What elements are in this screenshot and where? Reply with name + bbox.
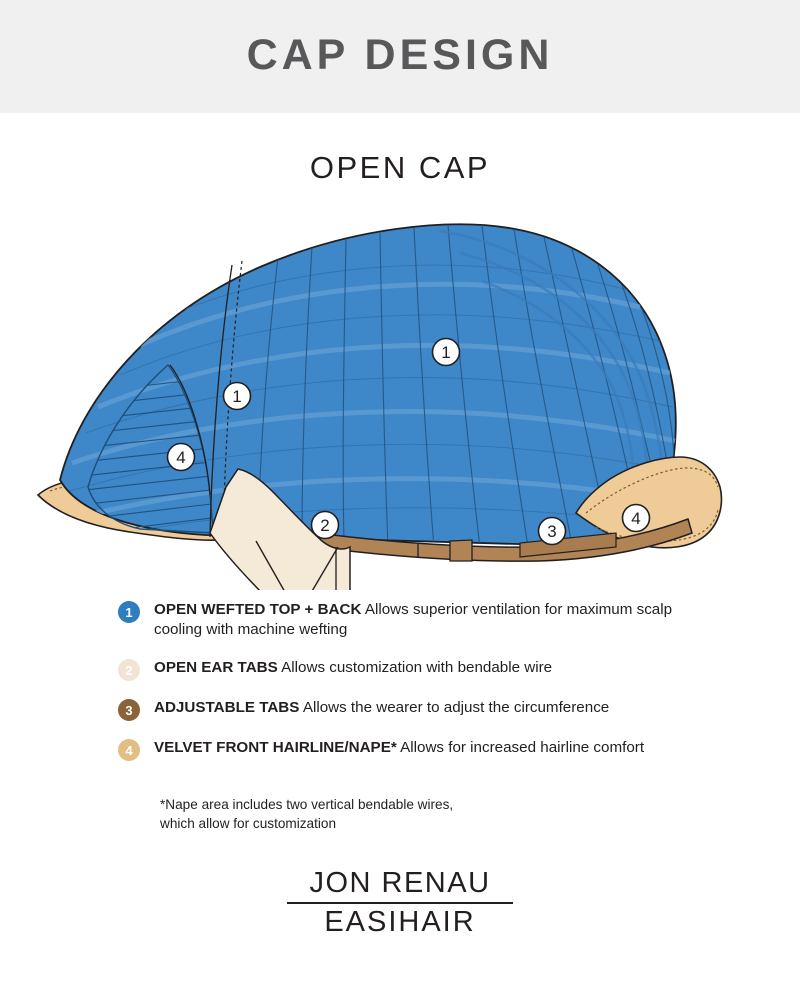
legend-footnote: *Nape area includes two vertical bendabl… (160, 795, 680, 833)
legend-title-2: OPEN EAR TABS (154, 659, 278, 676)
legend-text-4: VELVET FRONT HAIRLINE/NAPE* Allows for i… (154, 738, 644, 758)
legend-bullet-2: 2 (118, 659, 140, 681)
legend-desc-3: Allows the wearer to adjust the circumfe… (303, 699, 609, 716)
legend-desc-4: Allows for increased hairline comfort (400, 739, 644, 756)
svg-text:1: 1 (232, 387, 241, 406)
legend-desc-2: Allows customization with bendable wire (281, 659, 552, 676)
svg-text:4: 4 (631, 509, 640, 528)
open-cap-diagram: 1 1 2 3 4 4 (20, 195, 780, 590)
callout-3-adjustable-tab: 3 (539, 518, 566, 545)
legend-bullet-4: 4 (118, 739, 140, 761)
legend-bullet-1-number: 1 (125, 605, 132, 620)
legend-bullet-4-number: 4 (125, 743, 132, 758)
legend-item-3: 3 ADJUSTABLE TABS Allows the wearer to a… (118, 698, 698, 721)
brand-logo: JON RENAU EASIHAIR (0, 868, 800, 938)
legend-text-3: ADJUSTABLE TABS Allows the wearer to adj… (154, 698, 609, 718)
page-title: CAP DESIGN (247, 34, 554, 77)
svg-text:1: 1 (441, 343, 450, 362)
callout-2-ear-tab: 2 (312, 512, 339, 539)
callout-1-top: 1 (433, 339, 460, 366)
legend-bullet-3-number: 3 (125, 703, 132, 718)
legend-text-1: OPEN WEFTED TOP + BACK Allows superior v… (154, 600, 698, 639)
svg-text:2: 2 (320, 516, 329, 535)
callout-4-front-right: 4 (623, 505, 650, 532)
legend-bullet-1: 1 (118, 601, 140, 623)
footnote-line-2: which allow for customization (160, 814, 680, 833)
legend-item-4: 4 VELVET FRONT HAIRLINE/NAPE* Allows for… (118, 738, 698, 761)
legend-bullet-2-number: 2 (125, 663, 132, 678)
diagram-subtitle: OPEN CAP (0, 150, 800, 186)
callout-1-back: 1 (224, 383, 251, 410)
legend-title-4: VELVET FRONT HAIRLINE/NAPE* (154, 739, 397, 756)
legend-text-2: OPEN EAR TABS Allows customization with … (154, 658, 552, 678)
legend-title-1: OPEN WEFTED TOP + BACK (154, 601, 361, 618)
legend-title-3: ADJUSTABLE TABS (154, 699, 299, 716)
brand-divider (287, 902, 513, 904)
callout-4-nape-left: 4 (168, 444, 195, 471)
legend-item-1: 1 OPEN WEFTED TOP + BACK Allows superior… (118, 600, 698, 639)
footnote-line-1: *Nape area includes two vertical bendabl… (160, 795, 680, 814)
page-header: CAP DESIGN (0, 0, 800, 113)
cap-dome-shape (60, 224, 676, 548)
brand-name-primary: JON RENAU (0, 868, 800, 898)
legend-item-2: 2 OPEN EAR TABS Allows customization wit… (118, 658, 698, 681)
legend-bullet-3: 3 (118, 699, 140, 721)
legend-list: 1 OPEN WEFTED TOP + BACK Allows superior… (118, 600, 698, 773)
brand-name-secondary: EASIHAIR (0, 907, 800, 937)
svg-text:3: 3 (547, 522, 556, 541)
svg-text:4: 4 (176, 448, 185, 467)
